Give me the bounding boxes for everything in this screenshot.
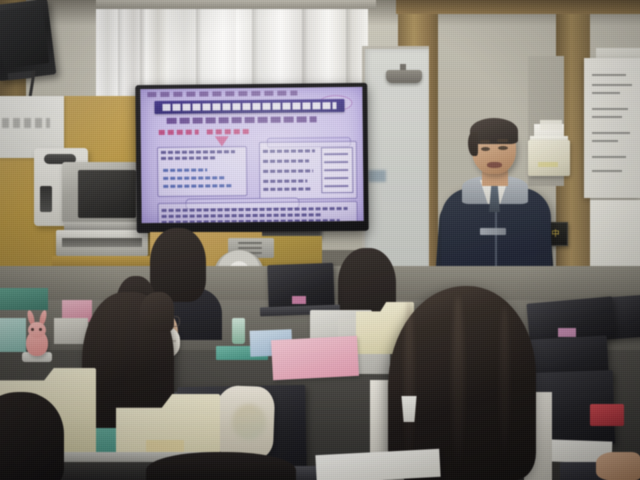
curtain-fold — [302, 0, 308, 92]
presenter-eyebrow-right — [497, 139, 508, 142]
cabinet-slot — [62, 238, 142, 247]
foreground-head-bottom — [146, 452, 296, 480]
laptop-sticker — [292, 296, 306, 304]
presenter-eye-right — [498, 146, 508, 150]
wall-monitor-screen — [0, 5, 49, 68]
slide-text-line — [263, 149, 315, 153]
posted-document-main — [584, 58, 640, 198]
foreground-hand-right — [596, 452, 640, 480]
wall-paper-tray — [528, 140, 570, 176]
document-line — [592, 140, 618, 142]
slide-diagram-row — [324, 169, 348, 171]
slide-diagram-row — [324, 177, 348, 179]
notice-sheet-text — [2, 118, 50, 128]
document-line — [592, 92, 620, 94]
papers-foreground — [315, 449, 440, 480]
document-line — [592, 156, 626, 158]
slide-subtitle-text — [167, 116, 317, 124]
bunny-eye-left — [31, 328, 34, 331]
projector-bracket — [386, 70, 422, 83]
wood-ceiling-beam — [396, 0, 640, 14]
photo-scene: 会議中 — [0, 0, 640, 480]
slide-header-strip — [147, 91, 297, 98]
slide-text-line — [161, 156, 217, 160]
curtain-rail — [96, 0, 376, 9]
paper-tray-label — [538, 162, 558, 167]
hair-highlight — [404, 300, 414, 470]
file-box-label — [146, 440, 184, 452]
printer-output-tray — [64, 222, 144, 230]
document-line — [592, 74, 626, 76]
pink-folder — [271, 336, 359, 380]
slide-text-line — [163, 176, 225, 180]
presenter-mouth — [487, 162, 502, 168]
curtain-fold — [252, 0, 258, 96]
fan-vent-slot — [238, 242, 262, 244]
drink-bottle — [232, 318, 245, 344]
slide-text-line — [263, 169, 313, 173]
presenter-jacket-badge — [480, 228, 506, 235]
presenter-eyebrow-left — [480, 140, 490, 143]
hair-highlight — [452, 296, 464, 476]
fan-vent-slot — [238, 247, 262, 249]
printer-body-dark — [78, 170, 136, 218]
small-posted-card — [540, 120, 562, 130]
slide-text-line — [163, 168, 207, 171]
whiteboard-writing — [368, 170, 386, 182]
slide-diagram-row — [324, 161, 348, 163]
slide-diagram-row — [324, 185, 348, 187]
presenter-eye-left — [481, 147, 490, 151]
desk-clutter-teal — [0, 318, 26, 352]
presenter-hair-side — [468, 132, 478, 156]
document-line — [592, 84, 632, 86]
slide-text-line — [263, 187, 311, 191]
document-line — [592, 170, 622, 172]
bunny-eye-right — [39, 328, 42, 331]
document-line — [592, 116, 622, 118]
red-desk-item — [590, 404, 624, 426]
slide-red-note-b — [207, 129, 249, 134]
curtain-fold — [346, 0, 352, 90]
attendee-back-left-hair — [150, 228, 206, 302]
slide-down-arrow-icon — [215, 136, 229, 146]
masked-attendee-hair-front — [140, 292, 174, 332]
hair-highlight — [500, 306, 509, 470]
cloth-pattern — [232, 404, 266, 440]
slide-text-line — [263, 159, 309, 162]
presentation-slide — [140, 87, 363, 223]
laptop-sticker — [558, 328, 576, 337]
slide-text-line — [263, 179, 307, 182]
document-line — [592, 132, 630, 134]
green-board-left — [0, 288, 48, 310]
document-line — [592, 108, 628, 110]
slide-red-note-a — [159, 130, 199, 135]
air-purifier-panel — [40, 186, 52, 212]
slide-diagram-row — [324, 153, 348, 155]
